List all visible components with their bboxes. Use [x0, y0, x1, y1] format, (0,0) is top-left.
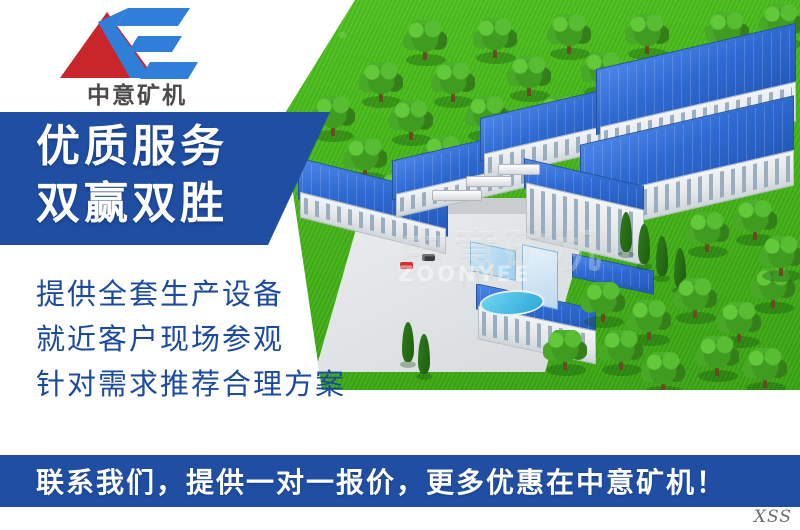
corner-watermark: XSS: [754, 507, 792, 527]
tree-icon: [402, 20, 448, 66]
promo-poster: 中意矿机 ZOONYEE 中意矿机 优质服务 双赢双胜 提供全套生产设备 就近客…: [0, 0, 800, 530]
triangle-e-logo-icon: [52, 6, 222, 84]
cypress-icon: [416, 332, 432, 380]
headline-line-1: 优质服务: [36, 118, 326, 175]
photo-watermark-sub: ZOONYEE: [398, 262, 531, 286]
tree-icon: [694, 336, 740, 382]
tree-icon: [758, 236, 800, 282]
tree-icon: [598, 330, 644, 376]
tree-icon: [684, 212, 730, 258]
footer-slogan: 联系我们，提供一对一报价，更多优惠在中意矿机！: [0, 455, 800, 507]
tree-icon: [542, 330, 588, 376]
tree-icon: [672, 278, 718, 324]
cypress-icon: [618, 210, 634, 258]
tree-icon: [640, 352, 686, 390]
tree-icon: [580, 282, 626, 328]
headline-line-2: 双赢双胜: [36, 175, 326, 232]
benefit-list: 提供全套生产设备 就近客户现场参观 针对需求推荐合理方案: [36, 272, 416, 407]
list-item: 就近客户现场参观: [36, 317, 416, 362]
brand-name: 中意矿机: [52, 76, 222, 110]
truck-icon: [466, 176, 512, 187]
list-item: 针对需求推荐合理方案: [36, 362, 416, 407]
list-item: 提供全套生产设备: [36, 272, 416, 317]
headline: 优质服务 双赢双胜: [36, 118, 326, 232]
cypress-icon: [654, 234, 670, 282]
truck-icon: [432, 190, 482, 201]
tree-icon: [742, 348, 788, 390]
cypress-icon: [636, 222, 652, 270]
truck-icon: [498, 164, 540, 175]
brand-logo: 中意矿机: [52, 6, 222, 108]
